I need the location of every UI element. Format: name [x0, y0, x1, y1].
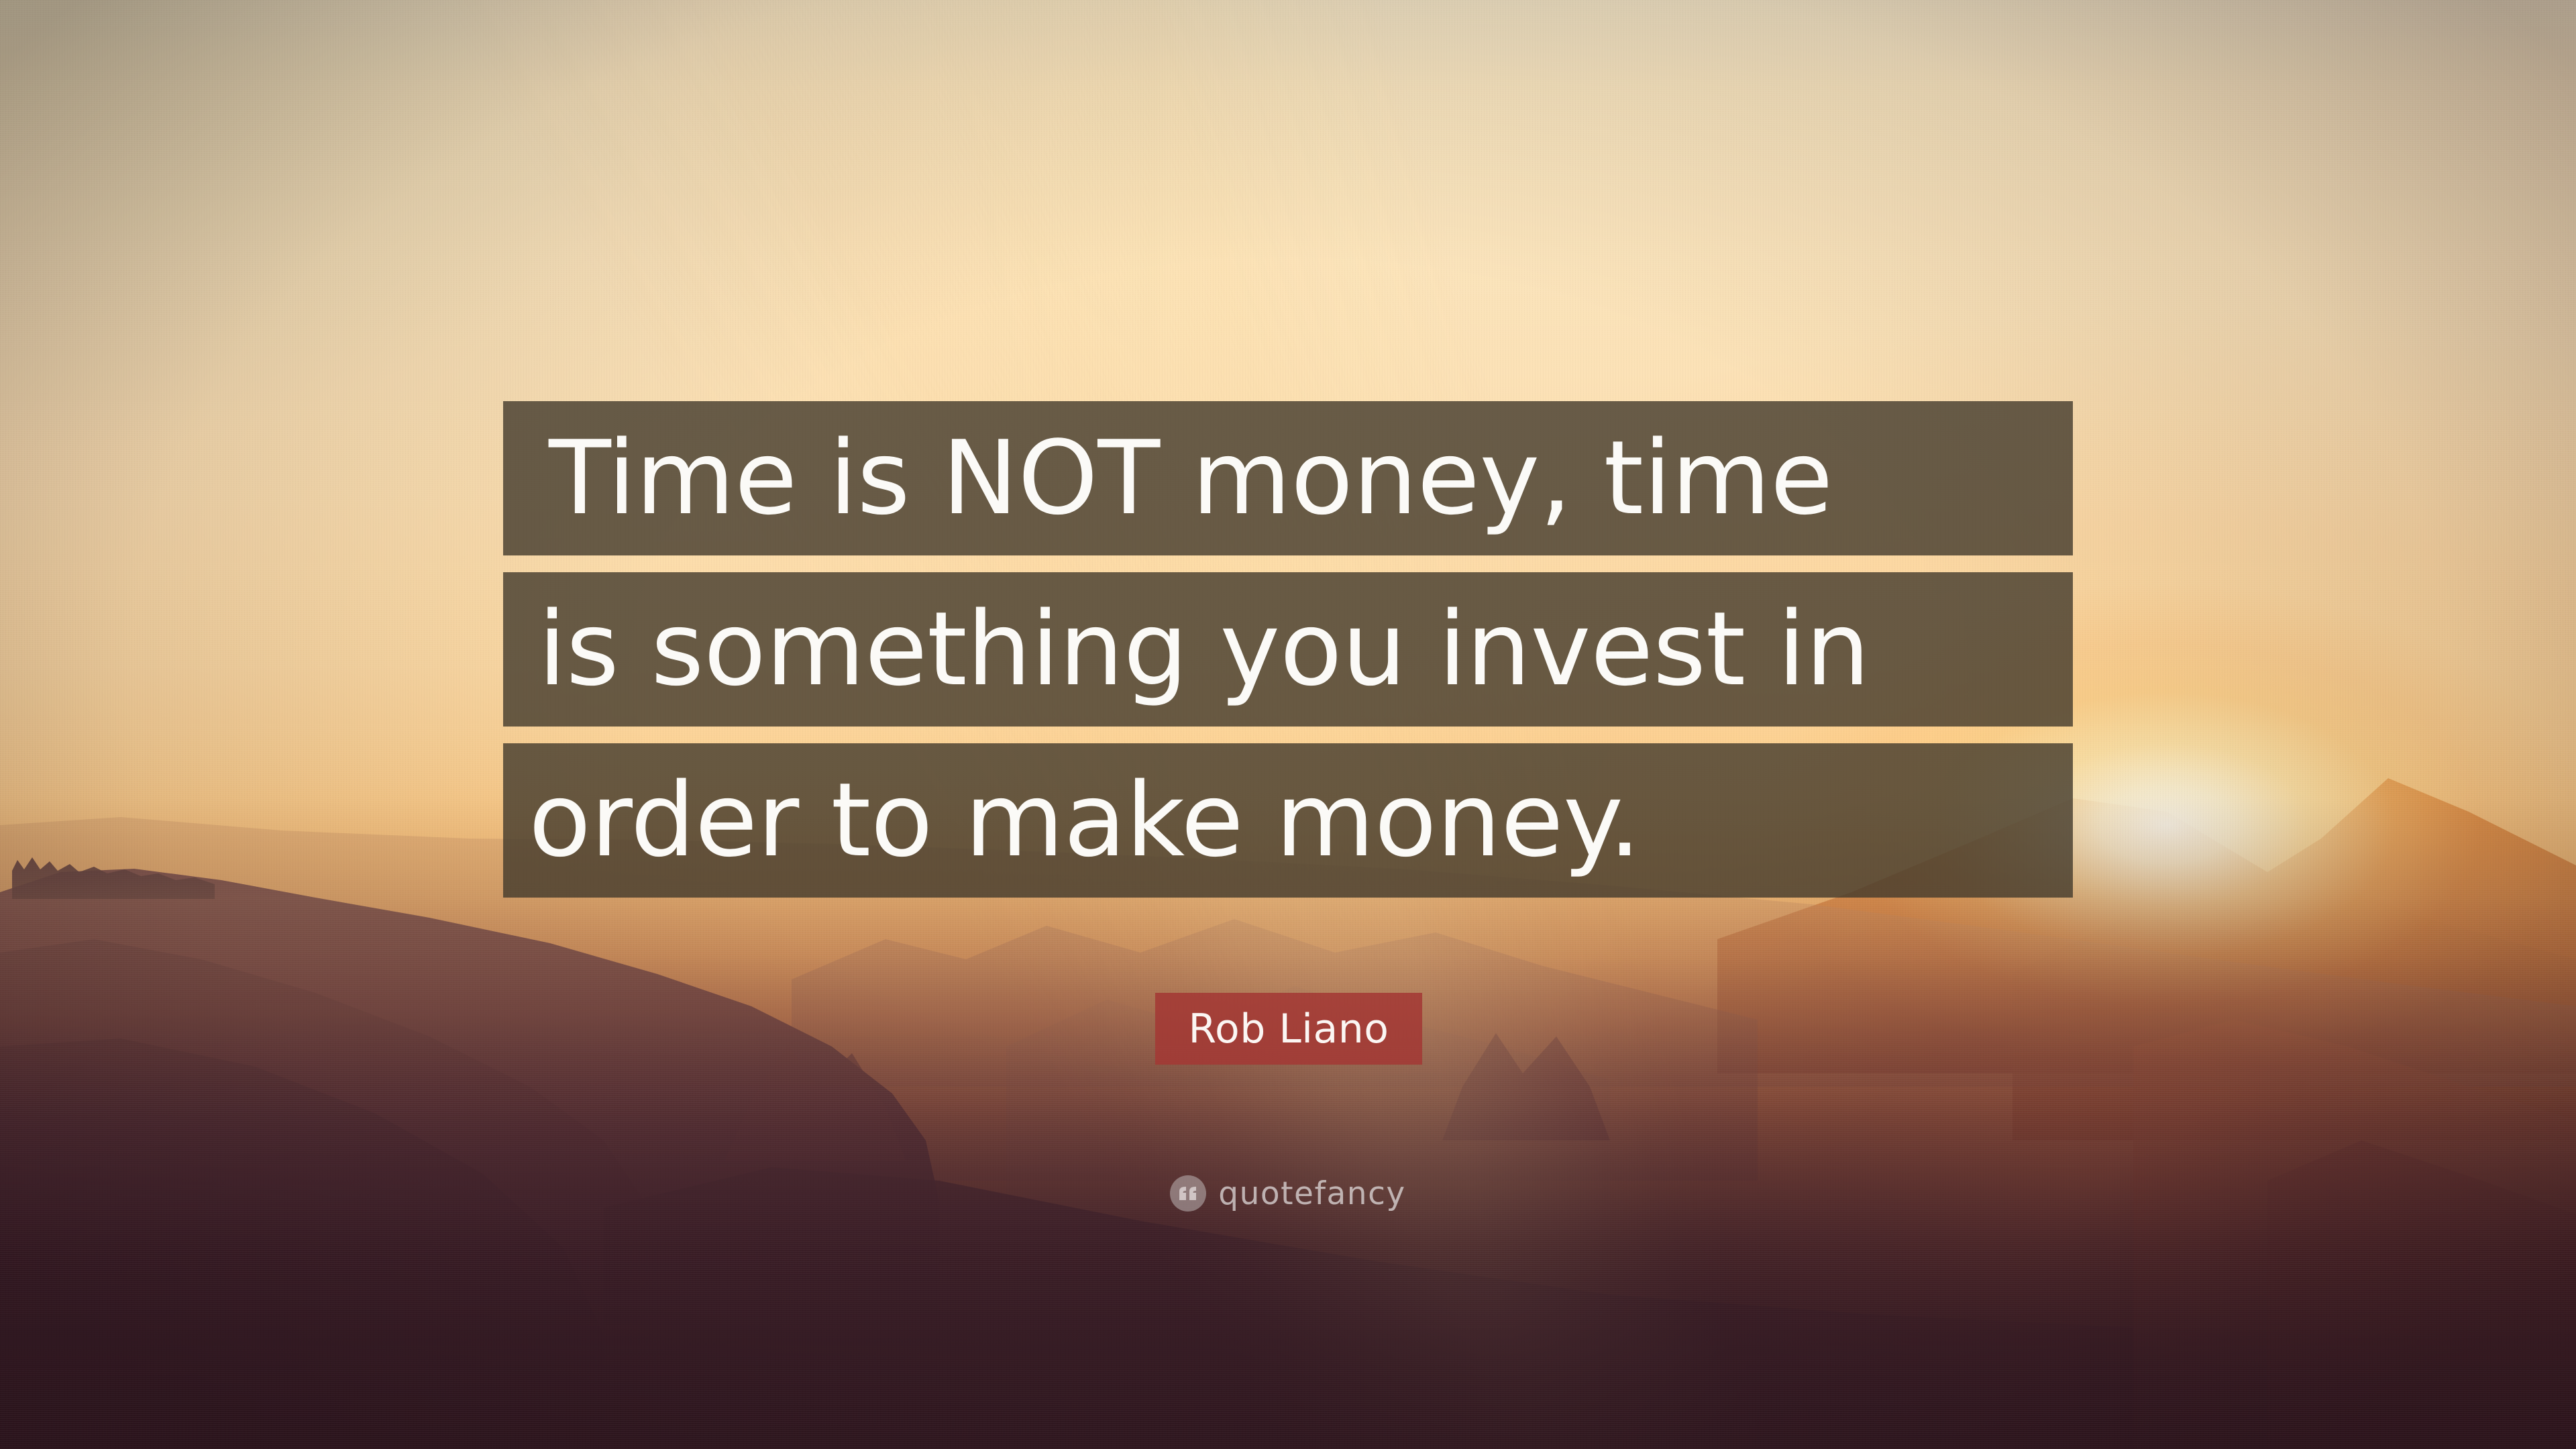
quote-mark-icon — [1170, 1175, 1206, 1212]
quote-wallpaper: Time is NOT money, time is something you… — [0, 0, 2576, 1449]
author-badge: Rob Liano — [1155, 993, 1422, 1065]
quote-text-block: Time is NOT money, time is something you… — [503, 401, 2073, 914]
quote-line-2: is something you invest in — [503, 572, 2073, 727]
watermark-text: quotefancy — [1218, 1178, 1406, 1210]
author-name: Rob Liano — [1189, 1009, 1389, 1049]
quote-line-3: order to make money. — [503, 743, 2073, 898]
watermark: quotefancy — [0, 1175, 2576, 1212]
quote-line-1: Time is NOT money, time — [503, 401, 2073, 555]
